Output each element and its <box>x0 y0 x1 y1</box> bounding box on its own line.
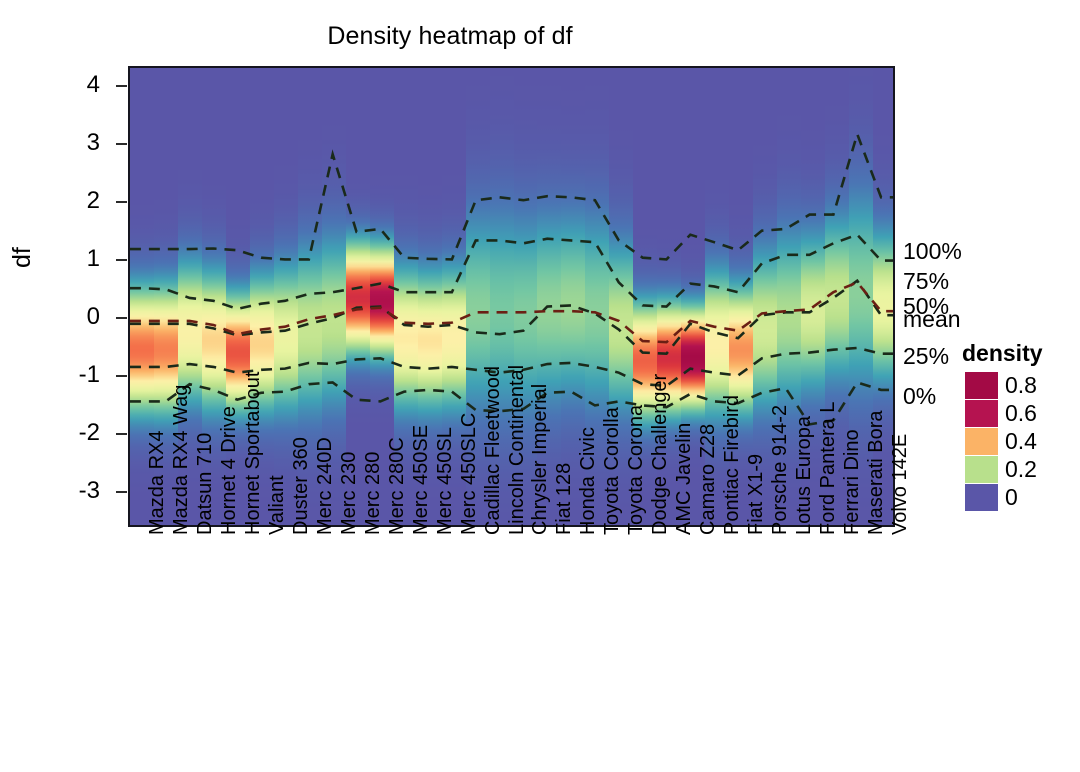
x-tick-label: Merc 280 <box>363 452 383 535</box>
x-tick-label: Merc 450SE <box>411 425 431 535</box>
x-tick-label: Pontiac Firebird <box>722 395 742 535</box>
x-tick-label: Maserati Bora <box>866 411 886 536</box>
x-tick-label: Fiat 128 <box>554 463 574 535</box>
quantile-label: mean <box>903 308 961 331</box>
x-tick-label: Cadillac Fleetwood <box>483 366 503 535</box>
x-tick-label: Valiant <box>267 475 287 535</box>
x-tick-label: Hornet 4 Drive <box>219 406 239 535</box>
y-tick-mark <box>116 375 127 377</box>
x-tick-label: Merc 280C <box>387 437 407 535</box>
legend-key-label: 0.4 <box>1005 428 1037 455</box>
x-tick-label: Merc 240D <box>315 437 335 535</box>
x-tick-label: Merc 230 <box>339 452 359 535</box>
x-tick-label: Chrysler Imperial <box>530 384 550 535</box>
y-tick-mark <box>116 433 127 435</box>
x-tick-label: Porsche 914-2 <box>770 405 790 535</box>
legend-key-label: 0.2 <box>1005 456 1037 483</box>
legend-key-label: 0.6 <box>1005 400 1037 427</box>
x-tick-label: Dodge Challenger <box>650 374 670 535</box>
y-tick-label: -1 <box>54 363 100 387</box>
y-tick-mark <box>116 85 127 87</box>
x-tick-label: Hornet Sportabout <box>243 372 263 535</box>
quantile-label: 0% <box>903 385 936 408</box>
quantile-label: 25% <box>903 345 949 368</box>
legend-title: density <box>962 340 1043 367</box>
y-tick-label: 3 <box>54 131 100 155</box>
y-tick-mark <box>116 143 127 145</box>
quantile-label: 75% <box>903 270 949 293</box>
y-tick-label: -3 <box>54 479 100 503</box>
legend-color-swatch <box>965 400 998 427</box>
page-title: Density heatmap of df <box>0 22 900 51</box>
x-tick-label: AMC Javelin <box>674 423 694 535</box>
x-tick-label: Honda Civic <box>578 427 598 535</box>
y-tick-mark <box>116 201 127 203</box>
y-tick-label: 4 <box>54 73 100 97</box>
x-tick-label: Toyota Corolla <box>602 407 622 535</box>
y-tick-mark <box>116 491 127 493</box>
x-tick-label: Lotus Europa <box>794 416 814 535</box>
y-tick-mark <box>116 317 127 319</box>
y-tick-label: 0 <box>54 305 100 329</box>
x-tick-label: Ferrari Dino <box>842 429 862 535</box>
x-tick-label: Fiat X1-9 <box>746 454 766 535</box>
y-tick-mark <box>116 259 127 261</box>
legend-color-swatch <box>965 428 998 455</box>
x-tick-label: Ford Pantera L <box>818 402 838 535</box>
x-tick-label: Duster 360 <box>291 437 311 535</box>
chart-root: Density heatmap of df df 43210-1-2-3 Maz… <box>0 0 1080 772</box>
x-tick-label: Camaro Z28 <box>698 424 718 535</box>
y-tick-label: 2 <box>54 189 100 213</box>
legend-key-label: 0 <box>1005 484 1018 511</box>
x-tick-label: Merc 450SL <box>435 427 455 535</box>
x-tick-label: Mazda RX4 Wag <box>171 385 191 535</box>
x-tick-label: Datsun 710 <box>195 433 215 535</box>
legend-color-swatch <box>965 484 998 511</box>
y-tick-label: -2 <box>54 421 100 445</box>
x-tick-label: Merc 450SLC <box>459 413 479 535</box>
legend-color-swatch <box>965 456 998 483</box>
x-tick-label: Mazda RX4 <box>147 431 167 536</box>
x-tick-label: Volvo 142E <box>890 434 910 535</box>
y-tick-label: 1 <box>54 247 100 271</box>
legend-key-label: 0.8 <box>1005 372 1037 399</box>
x-tick-label: Toyota Corona <box>626 405 646 535</box>
legend-color-swatch <box>965 372 998 399</box>
quantile-label: 100% <box>903 240 962 263</box>
x-tick-label: Lincoln Continental <box>507 365 527 535</box>
y-axis-label: df <box>8 247 37 268</box>
